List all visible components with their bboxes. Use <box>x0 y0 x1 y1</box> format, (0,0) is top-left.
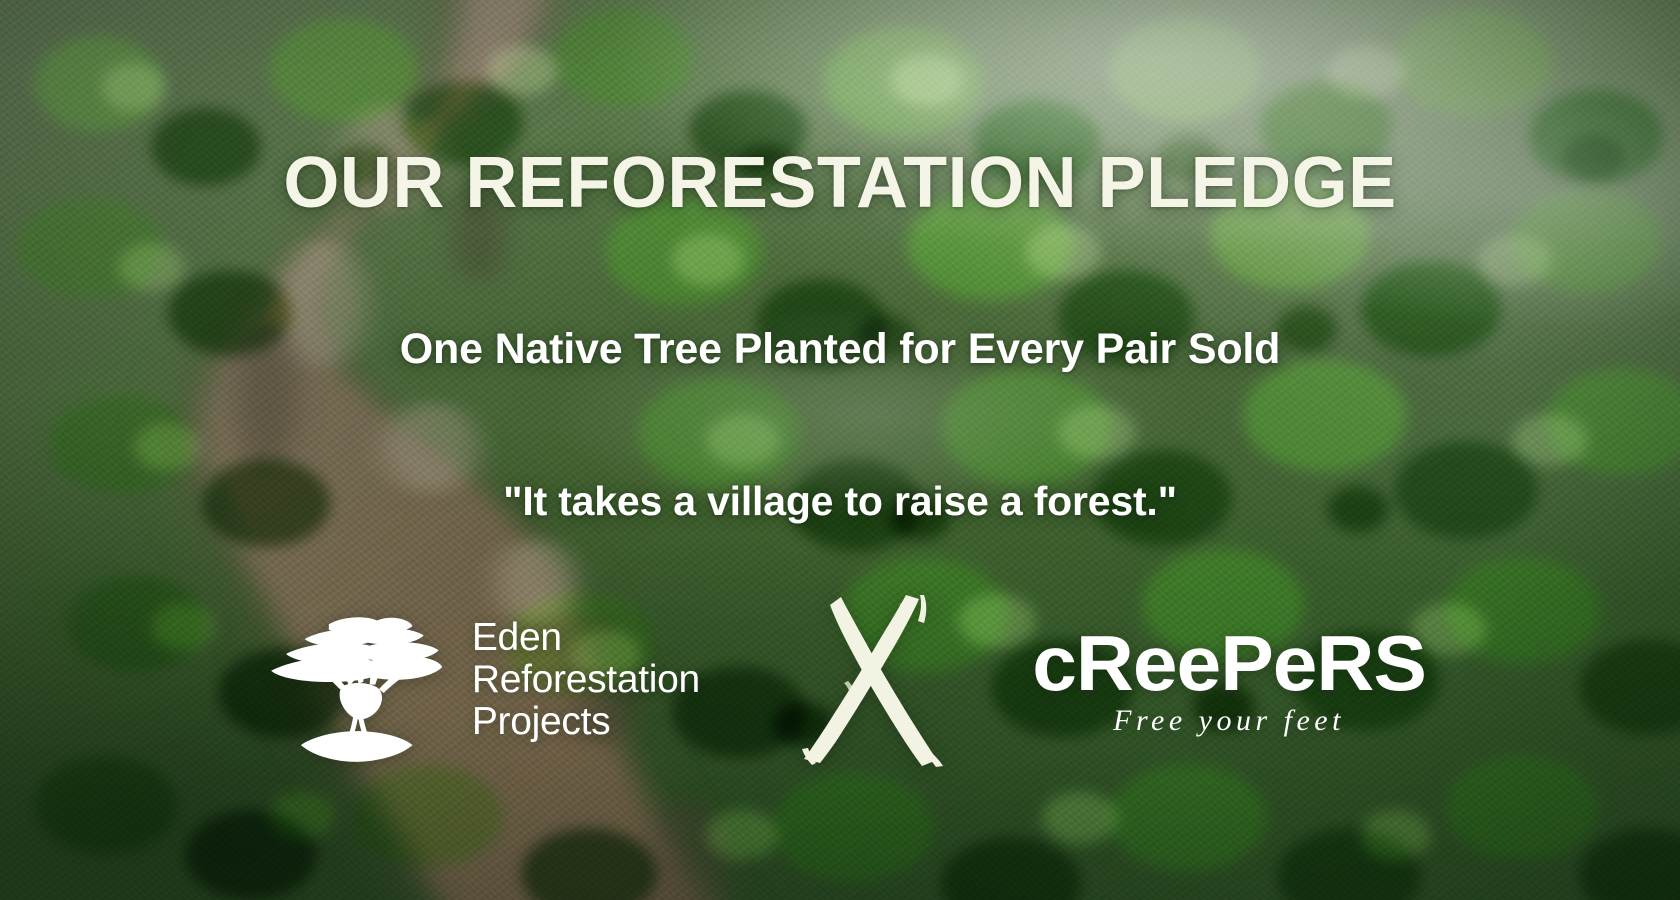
collaboration-x-icon <box>796 593 946 768</box>
reforestation-pledge-banner: OUR REFORESTATION PLEDGE One Native Tree… <box>0 0 1680 900</box>
page-title: OUR REFORESTATION PLEDGE <box>0 147 1680 219</box>
creepers-wordmark: cReePeRS <box>1032 624 1426 702</box>
partner-logo-band: Eden Reforestation Projects <box>0 575 1680 785</box>
eden-wordmark-line2: Reforestation <box>472 659 700 701</box>
creepers-logo: cReePeRS Free your feet <box>1038 624 1420 736</box>
eden-wordmark-line3: Projects <box>472 701 700 743</box>
eden-reforestation-logo: Eden Reforestation Projects <box>260 596 700 764</box>
creepers-tagline: Free your feet <box>1113 706 1345 736</box>
acacia-tree-logo-icon <box>260 596 446 764</box>
pledge-quote: "It takes a village to raise a forest." <box>0 481 1680 522</box>
overlay-content: OUR REFORESTATION PLEDGE One Native Tree… <box>0 0 1680 900</box>
eden-wordmark-line1: Eden <box>472 617 700 659</box>
pledge-subheadline: One Native Tree Planted for Every Pair S… <box>0 328 1680 371</box>
eden-wordmark: Eden Reforestation Projects <box>472 617 700 742</box>
